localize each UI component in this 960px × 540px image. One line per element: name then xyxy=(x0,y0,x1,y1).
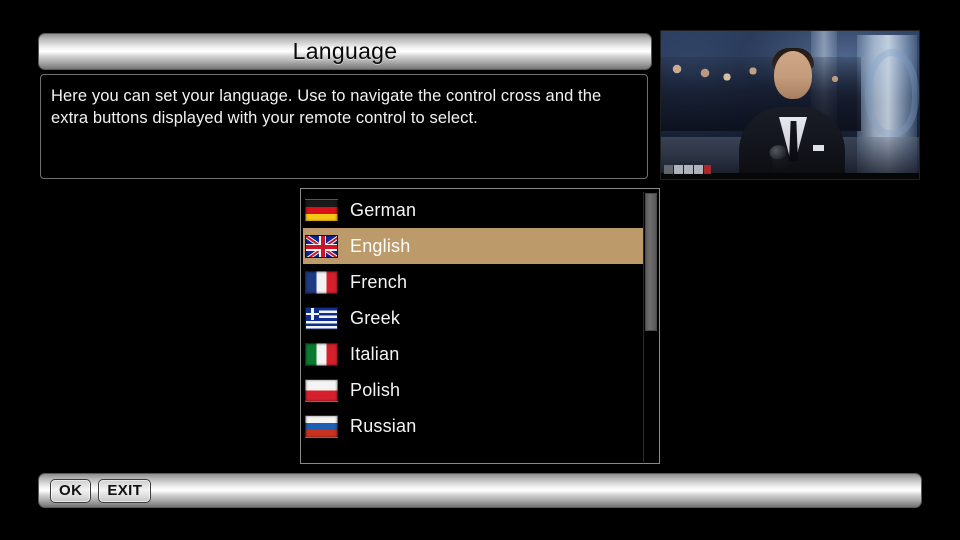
language-list-item[interactable]: Polish xyxy=(303,372,645,408)
language-list-item-label: English xyxy=(350,236,410,257)
help-description-box: Here you can set your language. Use to n… xyxy=(40,74,648,179)
language-list-item-label: Italian xyxy=(350,344,399,365)
language-list[interactable]: GermanEnglishFrenchGreekItalianPolishRus… xyxy=(303,192,645,444)
exit-button[interactable]: EXIT xyxy=(98,479,151,503)
preview-reporter-head xyxy=(774,51,812,99)
language-list-panel[interactable]: GermanEnglishFrenchGreekItalianPolishRus… xyxy=(300,188,660,464)
ok-button[interactable]: OK xyxy=(50,479,91,503)
help-text: Here you can set your language. Use to n… xyxy=(51,86,637,130)
language-list-item-label: Polish xyxy=(350,380,400,401)
language-list-item-label: Russian xyxy=(350,416,416,437)
window-title-bar: Language xyxy=(38,33,652,70)
language-list-item-label: Greek xyxy=(350,308,400,329)
language-list-item[interactable]: Greek xyxy=(303,300,645,336)
language-list-item[interactable]: English xyxy=(303,228,645,264)
preview-pocket-square xyxy=(813,145,824,151)
language-list-item[interactable]: French xyxy=(303,264,645,300)
list-scrollbar-track[interactable] xyxy=(643,192,657,462)
language-list-item[interactable]: Russian xyxy=(303,408,645,444)
flag-france-icon xyxy=(305,271,338,294)
channel-logo-bug xyxy=(664,164,711,175)
language-list-item-label: French xyxy=(350,272,407,293)
flag-poland-icon xyxy=(305,379,338,402)
page-title: Language xyxy=(293,38,398,65)
flag-russia-icon xyxy=(305,415,338,438)
picture-in-picture-preview xyxy=(660,30,920,180)
language-list-item[interactable]: German xyxy=(303,192,645,228)
flag-united-kingdom-icon xyxy=(305,235,338,258)
language-list-item[interactable]: Italian xyxy=(303,336,645,372)
language-list-item-label: German xyxy=(350,200,416,221)
flag-germany-icon xyxy=(305,199,338,222)
list-scrollbar-thumb[interactable] xyxy=(645,193,657,331)
flag-italy-icon xyxy=(305,343,338,366)
bottom-action-bar: OKEXIT xyxy=(38,473,922,508)
flag-greece-icon xyxy=(305,307,338,330)
